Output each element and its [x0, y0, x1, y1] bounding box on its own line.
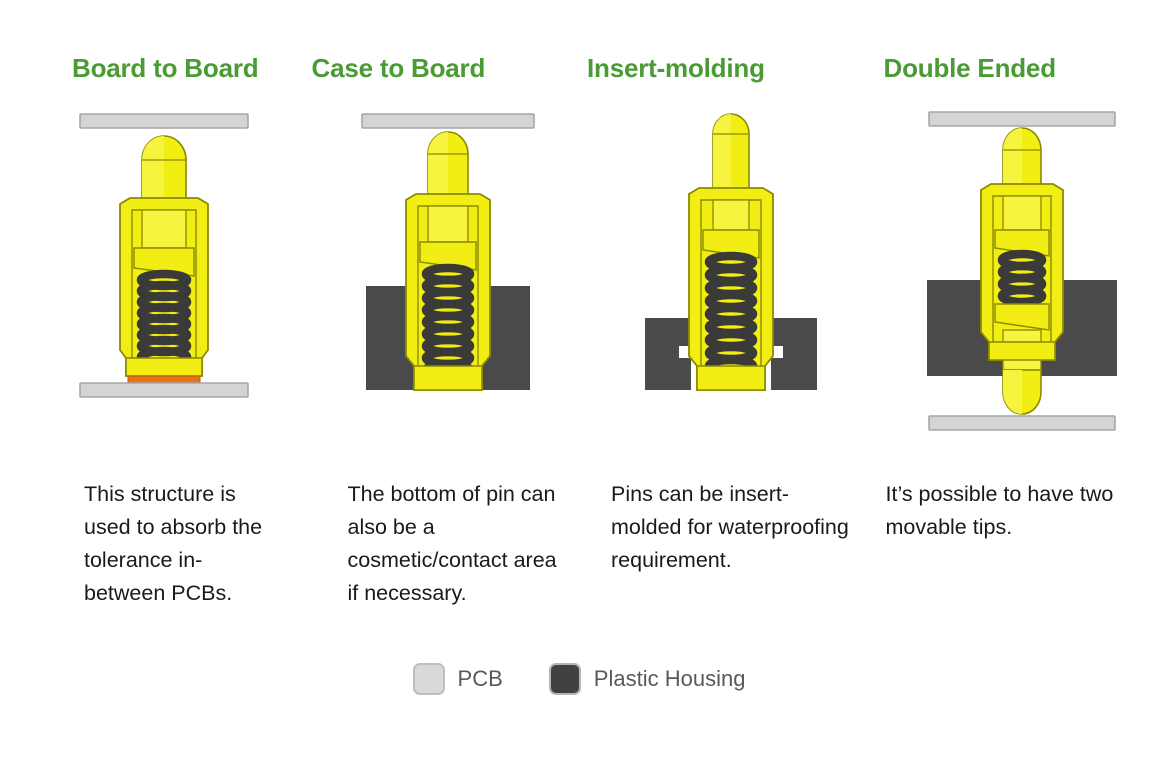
base-flange	[126, 358, 202, 376]
base-flange	[697, 366, 765, 390]
column-title-double-ended: Double Ended	[869, 53, 1158, 84]
pogo-pin-case-to-board-illustration	[348, 108, 548, 408]
base-flange	[989, 342, 1055, 360]
solder-pad	[128, 376, 200, 383]
column-insert-molding: Insert-molding	[579, 0, 869, 640]
pogo-pin-insert-molding-illustration	[631, 108, 831, 408]
bottom-pcb-bar	[929, 416, 1115, 430]
bottom-pcb-bar	[80, 383, 248, 397]
plunger-shaft	[713, 200, 749, 230]
pcb-swatch-icon	[413, 663, 445, 695]
column-title-insert-molding: Insert-molding	[579, 53, 869, 84]
plastic-housing-left	[645, 318, 691, 390]
legend-item-pcb: PCB	[413, 663, 503, 695]
top-pcb-bar	[362, 114, 534, 128]
figure-double-ended	[869, 108, 1158, 448]
legend-label-pcb: PCB	[458, 666, 503, 692]
base-flange	[414, 366, 482, 390]
pogo-pin-board-to-board-illustration	[64, 108, 264, 408]
caption-insert-molding: Pins can be insert-molded for waterproof…	[579, 478, 869, 577]
column-case-to-board: Case to Board	[290, 0, 580, 640]
figure-case-to-board	[290, 108, 580, 448]
top-pcb-bar	[929, 112, 1115, 126]
legend: PCB Plastic Housing	[0, 663, 1158, 695]
top-pcb-bar	[80, 114, 248, 128]
pin-type-columns: Board to Board	[0, 0, 1158, 640]
upper-plunger-shaft	[1003, 196, 1041, 230]
plunger-shaft	[142, 210, 186, 248]
lower-tip-highlight	[1003, 370, 1022, 414]
column-title-board-to-board: Board to Board	[0, 53, 290, 84]
caption-case-to-board: The bottom of pin can also be a cosmetic…	[290, 478, 580, 610]
caption-board-to-board: This structure is used to absorb the tol…	[0, 478, 290, 610]
legend-label-plastic-housing: Plastic Housing	[594, 666, 746, 692]
figure-insert-molding	[579, 108, 869, 448]
caption-double-ended: It’s possible to have two movable tips.	[869, 478, 1158, 544]
column-board-to-board: Board to Board	[0, 0, 290, 640]
figure-board-to-board	[0, 108, 290, 448]
column-title-case-to-board: Case to Board	[290, 53, 580, 84]
plastic-housing-swatch-icon	[549, 663, 581, 695]
column-double-ended: Double Ended	[869, 0, 1158, 640]
pogo-pin-double-ended-illustration	[917, 108, 1127, 438]
spring-coil	[141, 274, 187, 363]
legend-item-plastic-housing: Plastic Housing	[549, 663, 746, 695]
plunger-shaft	[428, 206, 468, 242]
plastic-housing-right	[771, 318, 817, 390]
